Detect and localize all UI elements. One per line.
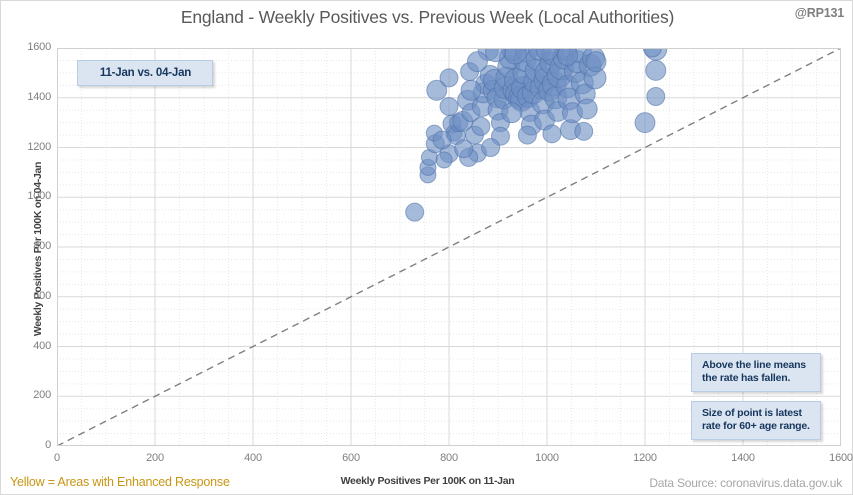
x-tick-label: 400	[228, 452, 278, 464]
scatter-point	[575, 122, 593, 140]
scatter-point	[502, 103, 522, 123]
scatter-point	[440, 97, 458, 115]
y-tick-label: 400	[7, 340, 51, 352]
page-title: England - Weekly Positives vs. Previous …	[1, 7, 853, 28]
scatter-point	[543, 125, 561, 143]
scatter-point	[646, 60, 666, 80]
x-tick-label: 800	[424, 452, 474, 464]
data-source-label: Data Source: coronavirus.data.gov.uk	[649, 476, 842, 490]
y-tick-label: 1600	[7, 41, 51, 53]
y-tick-label: 1000	[7, 190, 51, 202]
annotation-point-size: Size of point is latest rate for 60+ age…	[691, 401, 821, 440]
y-tick-label: 200	[7, 389, 51, 401]
scatter-point	[635, 113, 655, 133]
x-tick-label: 600	[326, 452, 376, 464]
author-handle: @RP131	[795, 6, 844, 20]
x-tick-label: 1400	[718, 452, 768, 464]
scatter-point	[586, 52, 606, 72]
y-tick-label: 600	[7, 290, 51, 302]
scatter-point	[440, 69, 458, 87]
x-tick-label: 1600	[816, 452, 853, 464]
scatter-point	[482, 139, 500, 157]
scatter-point	[467, 52, 487, 72]
x-tick-label: 200	[130, 452, 180, 464]
y-tick-label: 800	[7, 240, 51, 252]
x-tick-label: 1000	[522, 452, 572, 464]
scatter-point	[472, 117, 490, 135]
scatter-point	[455, 140, 473, 158]
chart-container: England - Weekly Positives vs. Previous …	[0, 0, 853, 495]
y-tick-label: 1200	[7, 141, 51, 153]
legend-box: 11-Jan vs. 04-Jan	[77, 60, 213, 86]
footer-legend-note: Yellow = Areas with Enhanced Response	[10, 475, 230, 489]
annotation-above-line: Above the line means the rate has fallen…	[691, 353, 821, 392]
scatter-point	[433, 131, 451, 149]
scatter-point	[558, 48, 578, 65]
y-tick-label: 0	[7, 439, 51, 451]
scatter-point	[577, 99, 597, 119]
scatter-point	[436, 152, 452, 168]
y-tick-label: 1400	[7, 91, 51, 103]
scatter-point	[647, 88, 665, 106]
x-tick-label: 0	[32, 452, 82, 464]
scatter-point	[518, 126, 536, 144]
scatter-point	[406, 203, 424, 221]
scatter-point	[461, 80, 481, 100]
x-tick-label: 1200	[620, 452, 670, 464]
